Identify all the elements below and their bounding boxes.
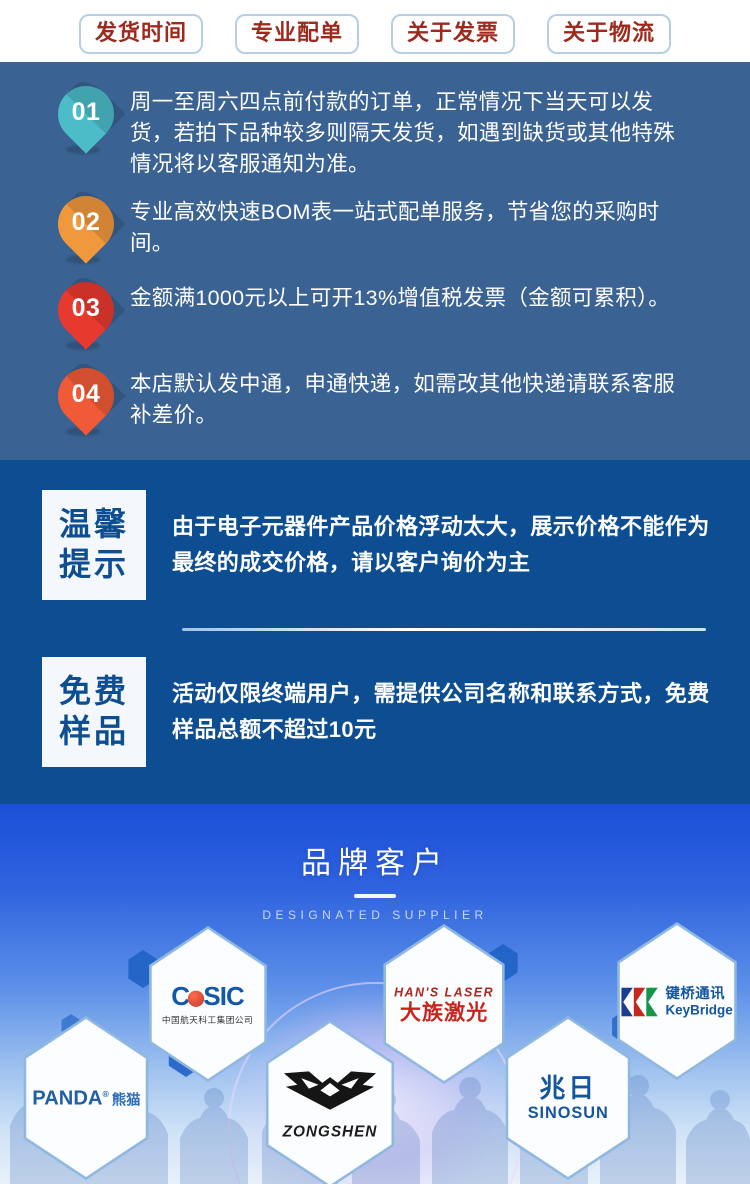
tips-divider [182,628,706,631]
pin-marker-03-icon: 03 [58,282,114,352]
brand-title-rule [354,894,396,898]
sinosun-logo-en: SINOSUN [527,1104,608,1120]
pin-marker-02-icon: 02 [58,196,114,266]
free-sample-row: 免费 样品 活动仅限终端用户，需提供公司名称和联系方式，免费样品总额不超过10元 [0,657,750,767]
notice-text: 本店默认发中通，申通快递，如需改其他快递请联系客服补差价。 [130,366,690,431]
keybridge-logo-cn: 键桥通讯 [665,986,732,1000]
brand-logo-zongshen[interactable]: ZONGSHEN [259,1023,401,1184]
tips-section: 温馨 提示 由于电子元器件产品价格浮动太大，展示价格不能作为最终的成交价格，请以… [0,460,750,801]
free-sample-badge: 免费 样品 [42,657,146,767]
warm-tip-badge: 温馨 提示 [42,490,146,600]
notice-item-04: 04 本店默认发中通，申通快递，如需改其他快递请联系客服补差价。 [0,366,750,438]
warm-tip-badge-line2: 提示 [42,544,146,584]
warm-tip-badge-line1: 温馨 [42,504,146,544]
casic-logo-cn: 中国航天科工集团公司 [162,1016,253,1025]
keybridge-logo-en: KeyBridge [665,1002,732,1015]
pin-number-label: 04 [58,368,114,420]
pin-marker-01-icon: 01 [58,86,114,156]
notice-item-02: 02 专业高效快速BOM表一站式配单服务，节省您的采购时间。 [0,194,750,266]
keybridge-chevron-icon [621,987,659,1016]
pin-number-label: 01 [58,86,114,138]
zongshen-wings-icon [280,1068,380,1118]
panda-logo-en: PANDA [32,1087,102,1109]
pin-number-label: 02 [58,196,114,248]
brand-title: 品牌客户 [0,838,750,882]
notice-item-01: 01 周一至周六四点前付款的订单，正常情况下当天可以发货，若拍下品种较多则隔天发… [0,84,750,180]
free-sample-text: 活动仅限终端用户，需提供公司名称和联系方式，免费样品总额不超过10元 [172,676,710,748]
tab-professional-matching[interactable]: 专业配单 [235,14,359,54]
notice-section: 01 周一至周六四点前付款的订单，正常情况下当天可以发货，若拍下品种较多则隔天发… [0,62,750,460]
casic-flame-icon [189,990,205,1006]
brand-logo-hans-laser[interactable]: HAN'S LASER 大族激光 [377,927,511,1081]
notice-text: 周一至周六四点前付款的订单，正常情况下当天可以发货，若拍下品种较多则隔天发货，如… [130,84,690,180]
tab-about-logistics[interactable]: 关于物流 [547,14,671,54]
brand-heading-block: 品牌客户 DESIGNATED SUPPLIER [0,838,750,922]
notice-text: 金额满1000元以上可开13%增值税发票（金额可累积）。 [130,280,670,314]
hans-laser-logo-en: HAN'S LASER [394,985,494,997]
sinosun-logo-cn: 兆日 [527,1075,608,1101]
tab-about-invoice[interactable]: 关于发票 [391,14,515,54]
brand-logo-sinosun[interactable]: 兆日 SINOSUN [499,1019,637,1177]
pin-number-label: 03 [58,282,114,334]
warm-tip-text: 由于电子元器件产品价格浮动太大，展示价格不能作为最终的成交价格，请以客户询价为主 [172,509,710,581]
free-sample-badge-line1: 免费 [42,671,146,711]
pin-marker-04-icon: 04 [58,368,114,438]
free-sample-badge-line2: 样品 [42,711,146,751]
brand-logo-keybridge[interactable]: 键桥通讯 KeyBridge [611,925,743,1077]
tab-row: 发货时间 专业配单 关于发票 关于物流 [0,0,750,62]
panda-logo-cn: 熊猫 [111,1092,140,1108]
brand-customers-section: 品牌客户 DESIGNATED SUPPLIER [0,801,750,1184]
brand-logo-panda[interactable]: PANDA®熊猫 [17,1019,155,1177]
warm-tip-row: 温馨 提示 由于电子元器件产品价格浮动太大，展示价格不能作为最终的成交价格，请以… [0,490,750,600]
brand-logo-casic[interactable]: CSIC 中国航天科工集团公司 [143,929,273,1079]
tab-shipping-time[interactable]: 发货时间 [79,14,203,54]
brand-subtitle: DESIGNATED SUPPLIER [0,908,750,922]
registered-trademark-icon: ® [102,1089,108,1099]
notice-text: 专业高效快速BOM表一站式配单服务，节省您的采购时间。 [130,194,690,259]
hans-laser-logo-cn: 大族激光 [394,1002,494,1023]
notice-item-03: 03 金额满1000元以上可开13%增值税发票（金额可累积）。 [0,280,750,352]
zongshen-logo-en: ZONGSHEN [280,1125,380,1140]
